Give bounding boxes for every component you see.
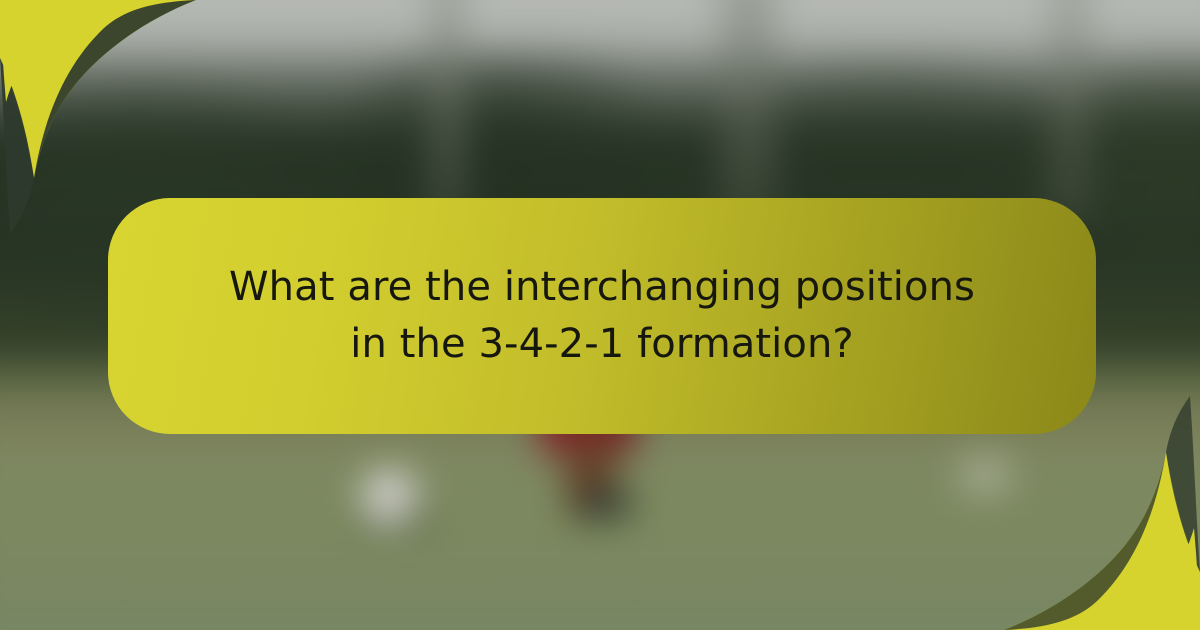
question-card: What are the interchanging positions in … (108, 198, 1096, 434)
question-text: What are the interchanging positions in … (132, 259, 1072, 373)
social-question-card: What are the interchanging positions in … (0, 0, 1200, 630)
